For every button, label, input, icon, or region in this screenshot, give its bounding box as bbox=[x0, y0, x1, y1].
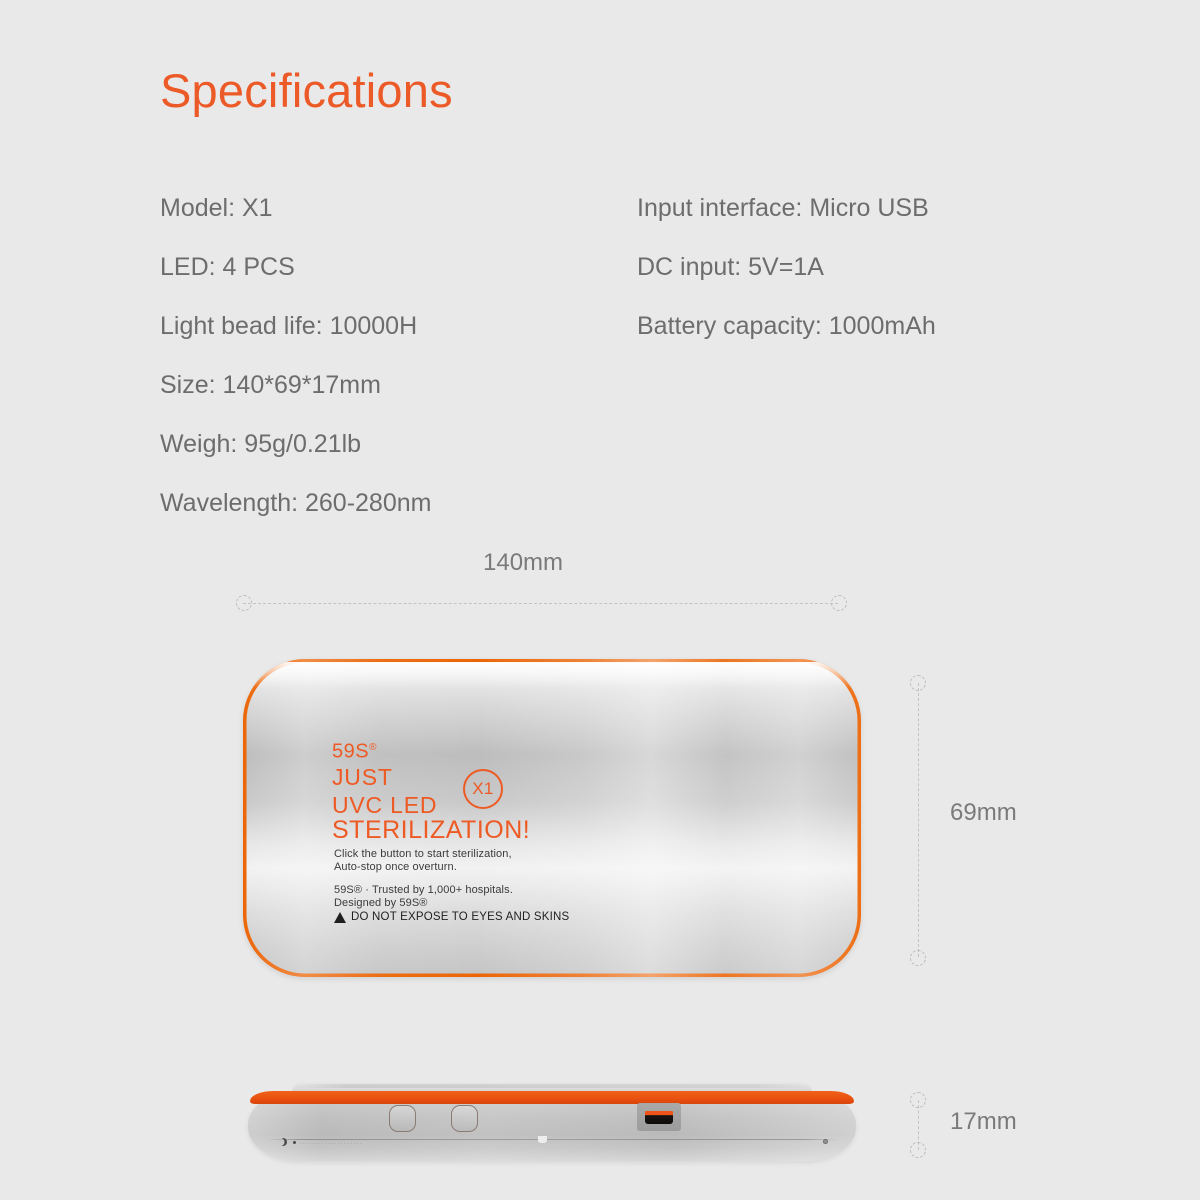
spec-item-weight: Weigh: 95g/0.21lb bbox=[160, 415, 431, 474]
device-screw-icon bbox=[823, 1139, 828, 1144]
spec-list-right: Input interface: Micro USB DC input: 5V=… bbox=[637, 179, 936, 356]
dimension-endpoint-height-top bbox=[910, 675, 926, 691]
page-title: Specifications bbox=[160, 63, 453, 118]
spec-item-led: LED: 4 PCS bbox=[160, 238, 431, 297]
dimension-label-height: 69mm bbox=[950, 799, 1017, 827]
registered-trademark-icon: ® bbox=[369, 742, 377, 753]
device-micro-usb-port bbox=[637, 1103, 681, 1131]
device-instruction-line-1: Click the button to start sterilization, bbox=[334, 848, 512, 861]
device-model-badge: X1 bbox=[463, 769, 503, 809]
device-side-orange-trim bbox=[250, 1091, 854, 1104]
spec-list-left: Model: X1 LED: 4 PCS Light bead life: 10… bbox=[160, 179, 431, 533]
warning-triangle-icon bbox=[334, 912, 346, 923]
device-marking-dot-icon bbox=[293, 1141, 296, 1144]
micro-usb-slot-icon bbox=[645, 1111, 673, 1124]
device-side-back-shadow bbox=[296, 1084, 808, 1088]
dimension-endpoint-width-left bbox=[236, 595, 252, 611]
device-brand-logo: 59S® bbox=[332, 738, 377, 762]
spec-item-input-interface: Input interface: Micro USB bbox=[637, 179, 936, 238]
dimension-endpoint-thickness-bottom bbox=[910, 1142, 926, 1158]
spec-item-dc-input: DC input: 5V=1A bbox=[637, 238, 936, 297]
device-brand-text: 59S bbox=[332, 741, 369, 763]
dimension-endpoint-width-right bbox=[831, 595, 847, 611]
device-warning-text: DO NOT EXPOSE TO EYES AND SKINS bbox=[334, 910, 569, 924]
device-power-button bbox=[389, 1105, 416, 1132]
spec-item-battery: Battery capacity: 1000mAh bbox=[637, 297, 936, 356]
device-hinge-notch bbox=[538, 1136, 547, 1143]
device-trust-line-1: 59S® · Trusted by 1,000+ hospitals. bbox=[334, 884, 513, 897]
spec-item-bead-life: Light bead life: 10000H bbox=[160, 297, 431, 356]
device-regulatory-microtext: · · · · · · · · · · · · · · · · · · · · bbox=[300, 1141, 362, 1147]
dimension-label-thickness: 17mm bbox=[950, 1108, 1017, 1136]
dimension-endpoint-height-bottom bbox=[910, 950, 926, 966]
spec-item-wavelength: Wavelength: 260-280nm bbox=[160, 474, 431, 533]
dimension-label-width: 140mm bbox=[483, 549, 563, 577]
dimension-line-width bbox=[243, 603, 838, 604]
device-warning-label: DO NOT EXPOSE TO EYES AND SKINS bbox=[351, 910, 569, 924]
device-tagline-uvcled: UVC LED bbox=[332, 794, 437, 817]
device-tagline-just: JUST bbox=[332, 766, 393, 789]
dimension-line-height bbox=[918, 683, 919, 957]
device-instruction-text: Click the button to start sterilization,… bbox=[334, 848, 512, 874]
device-tagline-sterilization: STERILIZATION! bbox=[332, 818, 530, 843]
specifications-page: Specifications Model: X1 LED: 4 PCS Ligh… bbox=[0, 0, 1200, 1200]
device-trust-text: 59S® · Trusted by 1,000+ hospitals. Desi… bbox=[334, 884, 513, 910]
device-seam-line bbox=[266, 1139, 838, 1140]
device-instruction-line-2: Auto-stop once overturn. bbox=[334, 861, 512, 874]
device-marking-crescent-icon bbox=[279, 1138, 287, 1146]
spec-item-model: Model: X1 bbox=[160, 179, 431, 238]
device-side-view: · · · · · · · · · · · · · · · · · · · · bbox=[248, 1091, 856, 1161]
device-trust-line-2: Designed by 59S® bbox=[334, 897, 513, 910]
dimension-endpoint-thickness-top bbox=[910, 1092, 926, 1108]
device-function-button bbox=[451, 1105, 478, 1132]
spec-item-size: Size: 140*69*17mm bbox=[160, 356, 431, 415]
